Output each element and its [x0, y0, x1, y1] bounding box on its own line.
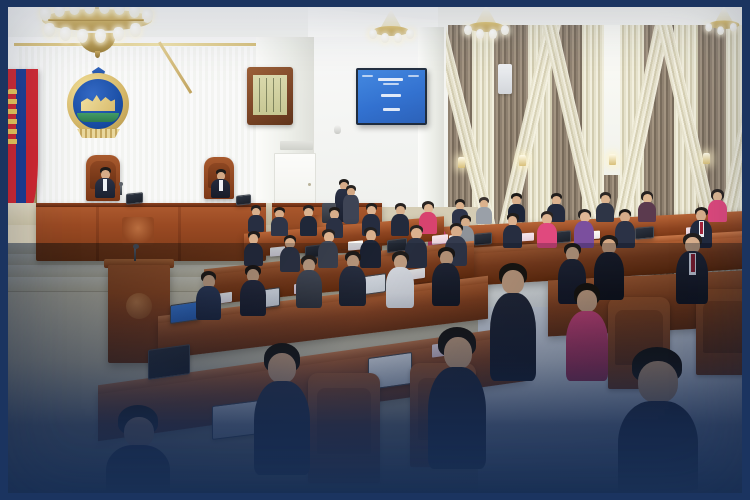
delegate	[676, 233, 708, 303]
chandelier-right-1	[365, 9, 417, 49]
person-head	[638, 361, 678, 403]
desk-tablet[interactable]	[148, 344, 190, 380]
presidium-seam	[96, 207, 99, 261]
person-torso	[244, 243, 263, 266]
chandelier-bulb	[464, 25, 472, 35]
person-shirt	[219, 180, 223, 191]
chandelier-crystal-cone	[716, 7, 733, 21]
chandelier-bulb	[489, 29, 497, 39]
person-torso	[537, 223, 557, 248]
presidium-seam	[178, 207, 181, 261]
chandelier-bulb	[44, 23, 55, 37]
person-torso	[339, 266, 366, 306]
screen-line-2	[383, 83, 399, 85]
chandelier-bulb	[381, 33, 389, 43]
delegate	[476, 197, 492, 223]
screen-line-3	[381, 94, 401, 97]
presidium-monitor-1[interactable]	[126, 192, 143, 205]
person-torso	[432, 263, 460, 306]
chandelier-ring	[373, 26, 409, 36]
wall-speaker	[498, 64, 512, 94]
emblem-green-band	[77, 113, 119, 122]
presentation-screen[interactable]	[356, 68, 427, 125]
presidium-desk	[36, 203, 266, 261]
name-card	[520, 233, 534, 242]
emblem-base	[77, 129, 120, 138]
wall-sconce-2	[519, 155, 526, 166]
presidium-carving	[122, 217, 154, 245]
person-torso	[240, 280, 266, 316]
chandelier-bulb	[113, 27, 124, 41]
chandelier-right-2	[460, 7, 512, 45]
person-torso	[428, 367, 486, 469]
presidium-official-2	[211, 169, 231, 199]
person-head	[444, 337, 472, 369]
chandelier-right-3	[702, 7, 742, 40]
chandelier-bulb	[130, 23, 141, 37]
chandelier-bulb	[394, 33, 402, 43]
state-emblem-icon	[65, 67, 133, 139]
person-head	[502, 270, 524, 294]
person-torso	[196, 286, 221, 320]
person-torso	[296, 270, 322, 308]
wall-sconce-4	[703, 153, 710, 164]
person-torso	[271, 217, 288, 236]
presidium-microphone-1	[120, 185, 122, 195]
delegate-foreground	[428, 327, 486, 467]
person-torso	[386, 267, 414, 308]
person-torso	[638, 202, 656, 222]
chandelier-main	[38, 7, 156, 55]
delegate	[244, 231, 263, 265]
delegate-foreground	[490, 263, 536, 379]
person-head	[124, 417, 154, 447]
curtain-bay-wall-1	[604, 25, 620, 175]
delegate	[574, 209, 594, 247]
person-head	[268, 353, 296, 383]
person-torso	[618, 401, 698, 493]
delegate	[537, 211, 557, 247]
person-tie	[691, 254, 695, 272]
microphone-head-icon	[119, 182, 123, 186]
delegate	[432, 247, 460, 305]
person-head	[577, 290, 597, 312]
chandelier-finial	[95, 51, 100, 58]
framed-script-icon	[247, 67, 293, 125]
presidium-official-1	[94, 167, 116, 199]
chandelier-crystal-cone	[381, 9, 401, 27]
framed-script-parchment	[253, 75, 287, 115]
screen-header-left	[362, 75, 373, 77]
wall-sconce-3	[609, 154, 616, 165]
delegate	[638, 191, 656, 221]
chandelier-bulb	[476, 29, 484, 39]
screen-header-right	[408, 75, 419, 77]
delegate-foreground	[254, 343, 310, 473]
chandelier-bulb	[95, 29, 106, 43]
wall-sconce-1	[458, 157, 465, 168]
chandelier-crystal-cone	[476, 7, 496, 23]
person-torso	[254, 381, 310, 475]
person-torso	[248, 215, 264, 232]
person-torso	[490, 293, 536, 381]
desk-tablet[interactable]	[635, 226, 654, 240]
person-torso	[566, 311, 608, 381]
chandelier-arm	[48, 19, 144, 21]
delegate	[248, 205, 264, 231]
chandelier-bulb	[717, 26, 724, 35]
delegate	[339, 251, 366, 305]
chandelier-bulb	[60, 27, 71, 41]
person-torso	[106, 445, 170, 493]
air-vent	[280, 141, 313, 150]
microphone-head-icon	[133, 244, 139, 249]
delegate-foreground	[566, 283, 608, 379]
delegate	[386, 251, 414, 307]
presidium-edge	[36, 203, 266, 207]
parliament-photograph: Wide interior photograph of the State Gr…	[8, 7, 742, 493]
person-torso	[343, 195, 359, 224]
person-torso	[503, 225, 522, 248]
door-knob-icon[interactable]	[308, 183, 311, 186]
national-flag-icon	[8, 69, 38, 219]
chandelier-bulb	[369, 29, 377, 39]
delegate	[300, 205, 317, 235]
chandelier-bulb	[730, 23, 737, 32]
person-torso	[300, 216, 317, 236]
person-shirt	[103, 179, 107, 191]
chandelier-bulb	[705, 23, 712, 32]
delegate	[196, 271, 221, 319]
desk-tablet[interactable]	[212, 400, 260, 440]
delegate	[240, 265, 266, 315]
chandelier-ring	[468, 22, 504, 32]
image-frame: Wide interior photograph of the State Gr…	[0, 0, 750, 500]
delegate-foreground	[618, 347, 698, 493]
delegate-chair-foreground-1	[308, 373, 380, 483]
chandelier-bulb	[501, 25, 509, 35]
security-camera-icon	[334, 125, 341, 134]
screen-line-4	[383, 108, 400, 111]
desk-tablet[interactable]	[474, 232, 492, 246]
standing-attendee	[343, 185, 359, 223]
chandelier-bulb	[142, 9, 153, 23]
chandelier-bulb	[77, 29, 88, 43]
delegate	[596, 192, 614, 221]
podium-emblem-icon	[126, 293, 152, 319]
delegate-foreground	[106, 405, 170, 493]
screen-line-1	[378, 78, 403, 81]
person-torso	[596, 203, 614, 222]
delegate	[271, 207, 288, 235]
soyombo-symbol-icon	[8, 89, 17, 147]
podium-microphone	[134, 247, 136, 261]
delegate	[503, 213, 522, 247]
person-torso	[476, 207, 492, 224]
chandelier-bulb	[406, 29, 414, 39]
delegate	[296, 255, 322, 307]
